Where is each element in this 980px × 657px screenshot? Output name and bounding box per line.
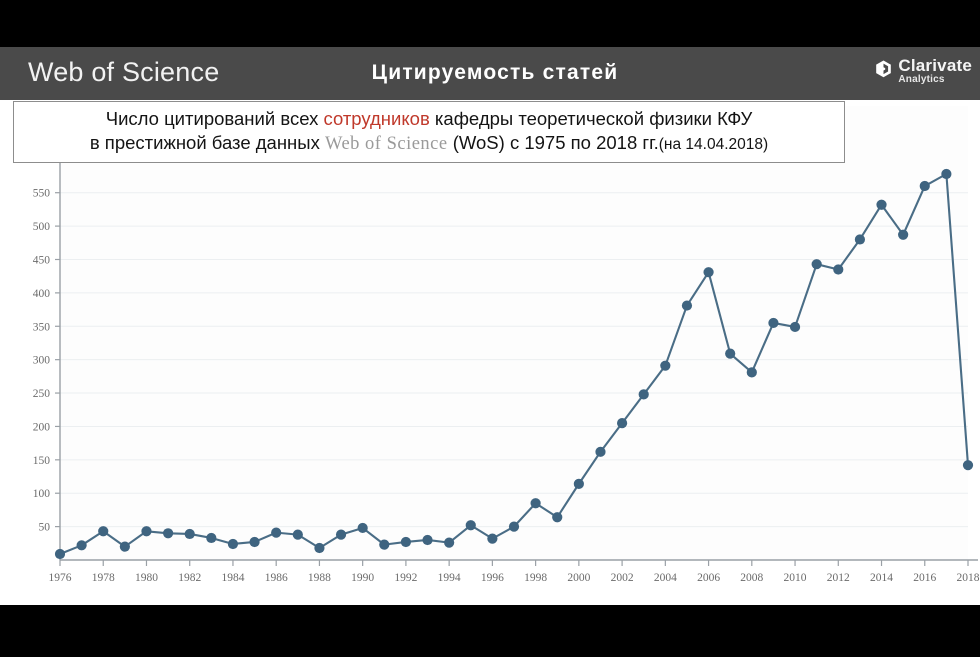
data-point-marker <box>790 322 800 332</box>
clarivate-name: Clarivate <box>898 57 972 75</box>
caption-text-b: кафедры теоретической физики КФУ <box>430 108 752 129</box>
data-point-marker <box>206 533 216 543</box>
data-point-marker <box>141 526 151 536</box>
y-axis-tick-label: 550 <box>33 188 51 200</box>
y-axis-tick-label: 200 <box>33 421 51 433</box>
data-point-marker <box>574 479 584 489</box>
y-axis-tick-label: 400 <box>33 288 51 300</box>
data-point-marker <box>98 526 108 536</box>
header-bar: Web of Science Цитируемость статей Clari… <box>0 47 980 100</box>
bottom-black-band <box>0 605 980 657</box>
y-axis-tick-label: 500 <box>33 221 51 233</box>
caption-box: Число цитирований всех сотрудников кафед… <box>13 101 845 163</box>
data-point-marker <box>422 535 432 545</box>
caption-line-1: Число цитирований всех сотрудников кафед… <box>24 107 834 131</box>
data-point-marker <box>833 264 843 274</box>
data-point-marker <box>876 200 886 210</box>
data-point-marker <box>812 259 822 269</box>
data-point-marker <box>271 528 281 538</box>
x-axis-tick-label: 2016 <box>913 572 936 584</box>
page-title: Цитируемость статей <box>0 61 980 85</box>
x-axis-tick-label: 2002 <box>611 572 634 584</box>
data-point-marker <box>703 267 713 277</box>
top-black-band <box>0 0 980 47</box>
x-axis-tick-label: 2010 <box>784 572 807 584</box>
data-point-marker <box>855 234 865 244</box>
y-axis-tick-label: 300 <box>33 355 51 367</box>
data-point-marker <box>682 300 692 310</box>
x-axis-tick-label: 2006 <box>697 572 720 584</box>
x-axis-tick-label: 1998 <box>524 572 547 584</box>
caption-line-2: в престижной базе данных Web of Science … <box>24 131 834 156</box>
x-axis-tick-label: 2012 <box>827 572 850 584</box>
data-point-marker <box>163 528 173 538</box>
data-point-marker <box>185 529 195 539</box>
clarivate-logo: Clarivate Analytics <box>875 57 972 85</box>
data-point-marker <box>487 534 497 544</box>
data-point-marker <box>55 549 65 559</box>
data-point-marker <box>120 542 130 552</box>
data-point-marker <box>379 540 389 550</box>
data-point-marker <box>768 318 778 328</box>
data-point-marker <box>249 537 259 547</box>
x-axis-tick-label: 1986 <box>265 572 288 584</box>
data-point-marker <box>444 538 454 548</box>
data-point-marker <box>466 520 476 530</box>
clarivate-hexagon-icon <box>875 60 892 78</box>
data-point-marker <box>293 530 303 540</box>
y-axis-tick-label: 350 <box>33 321 51 333</box>
x-axis-tick-label: 1988 <box>308 572 331 584</box>
data-point-marker <box>941 169 951 179</box>
data-point-marker <box>595 447 605 457</box>
data-point-marker <box>77 540 87 550</box>
data-point-marker <box>747 367 757 377</box>
y-axis-tick-label: 150 <box>33 455 51 467</box>
plot-background <box>60 106 968 560</box>
data-point-marker <box>963 460 973 470</box>
data-point-marker <box>920 181 930 191</box>
data-point-marker <box>660 361 670 371</box>
x-axis-tick-label: 1992 <box>394 572 417 584</box>
data-point-marker <box>639 389 649 399</box>
caption-date-note: (на 14.04.2018) <box>659 136 768 153</box>
caption-text-a: Число цитирований всех <box>106 108 324 129</box>
data-point-marker <box>314 543 324 553</box>
y-axis-tick-label: 250 <box>33 388 51 400</box>
data-point-marker <box>228 539 238 549</box>
clarivate-wordmark: Clarivate Analytics <box>898 57 972 85</box>
caption-highlight-employees: сотрудников <box>323 108 429 129</box>
caption-text-d: (WoS) с 1975 по 2018 гг. <box>448 132 659 153</box>
chart-area: 5010015020025030035040045050055019761978… <box>0 100 980 605</box>
data-point-marker <box>531 498 541 508</box>
x-axis-tick-label: 1982 <box>178 572 201 584</box>
data-point-marker <box>552 512 562 522</box>
y-axis-tick-label: 50 <box>39 522 51 534</box>
x-axis-tick-label: 2018 <box>957 572 980 584</box>
x-axis-tick-label: 2008 <box>740 572 763 584</box>
caption-text-c: в престижной базе данных <box>90 132 325 153</box>
x-axis-tick-label: 1978 <box>92 572 115 584</box>
data-point-marker <box>336 530 346 540</box>
data-point-marker <box>898 230 908 240</box>
data-point-marker <box>509 522 519 532</box>
x-axis-tick-label: 2004 <box>654 572 677 584</box>
x-axis-tick-label: 1994 <box>438 572 461 584</box>
data-point-marker <box>358 523 368 533</box>
caption-wos-label: Web of Science <box>325 134 448 154</box>
y-axis-tick-label: 450 <box>33 254 51 266</box>
citations-line-chart: 5010015020025030035040045050055019761978… <box>0 100 980 605</box>
x-axis-tick-label: 1980 <box>135 572 158 584</box>
slide-root: Web of Science Цитируемость статей Clari… <box>0 0 980 657</box>
x-axis-tick-label: 2014 <box>870 572 893 584</box>
clarivate-subtitle: Analytics <box>898 75 972 86</box>
data-point-marker <box>401 537 411 547</box>
x-axis-tick-label: 1996 <box>481 572 504 584</box>
data-point-marker <box>617 418 627 428</box>
x-axis-tick-label: 1984 <box>221 572 244 584</box>
y-axis-tick-label: 100 <box>33 488 51 500</box>
x-axis-tick-label: 1976 <box>49 572 72 584</box>
data-point-marker <box>725 349 735 359</box>
x-axis-tick-label: 2000 <box>567 572 590 584</box>
x-axis-tick-label: 1990 <box>351 572 374 584</box>
